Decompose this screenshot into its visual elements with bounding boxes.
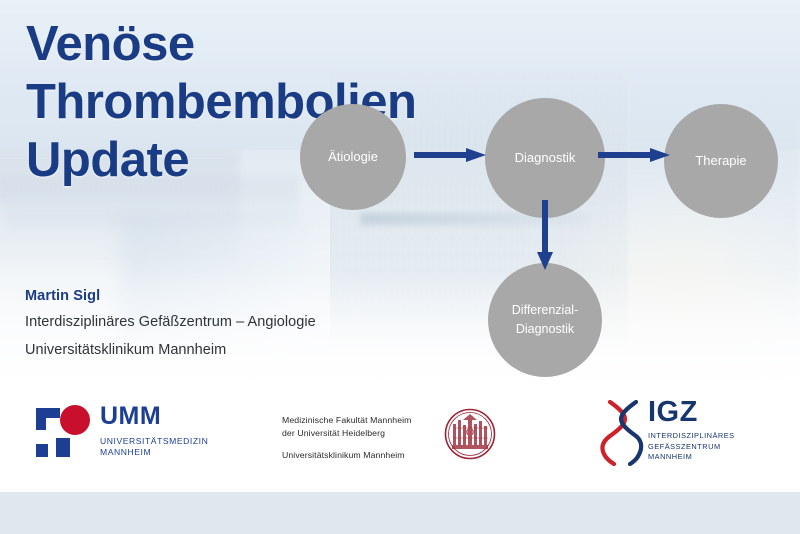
logo-igz: IGZ INTERDISZIPLINÄRES GEFÄSSZENTRUM MAN… xyxy=(600,398,768,470)
arrow-right-icon-aetiologie-diagnostik xyxy=(414,148,486,162)
igz-wordmark: IGZ xyxy=(648,398,735,427)
logo-umm: UMM UNIVERSITÄTSMEDIZIN MANNHEIM xyxy=(36,400,226,470)
umm-text-block: UMM UNIVERSITÄTSMEDIZIN MANNHEIM xyxy=(100,404,208,459)
logo-heidelberg: Medizinische Fakultät Mannheim der Unive… xyxy=(282,414,512,470)
heidelberg-line-1: Medizinische Fakultät Mannheim der Unive… xyxy=(282,414,412,439)
presentation-title-slide: Venöse Thrombembolien Update Martin Sigl… xyxy=(0,0,800,534)
heidelberg-line-2: Universitätsklinikum Mannheim xyxy=(282,450,412,460)
umm-wordmark: UMM xyxy=(100,404,208,429)
igz-helix-icon xyxy=(600,400,648,466)
author-affiliation-line-2: Universitätsklinikum Mannheim xyxy=(25,342,226,358)
heidelberg-text-block: Medizinische Fakultät Mannheim der Unive… xyxy=(282,414,412,460)
diagram-node-aetiologie[interactable]: Ätiologie xyxy=(300,104,406,210)
diagram-node-therapie[interactable]: Therapie xyxy=(664,104,778,218)
author-name: Martin Sigl xyxy=(25,288,100,304)
bottom-strip xyxy=(0,492,800,534)
umm-subtitle: UNIVERSITÄTSMEDIZIN MANNHEIM xyxy=(100,436,208,459)
author-affiliation-line-1: Interdisziplinäres Gefäßzentrum – Angiol… xyxy=(25,314,316,330)
umm-mark-icon xyxy=(36,404,92,462)
arrow-right-icon-diagnostik-therapie xyxy=(598,148,670,162)
igz-subtitle: INTERDISZIPLINÄRES GEFÄSSZENTRUM MANNHEI… xyxy=(648,431,735,463)
arrow-down-icon-diagnostik-differenzialdiagnostik xyxy=(537,200,553,270)
igz-text-block: IGZ INTERDISZIPLINÄRES GEFÄSSZENTRUM MAN… xyxy=(648,398,735,463)
diagram-node-differenzialdiagnostik[interactable]: Differenzial- Diagnostik xyxy=(488,263,602,377)
heidelberg-seal-icon xyxy=(444,408,496,460)
